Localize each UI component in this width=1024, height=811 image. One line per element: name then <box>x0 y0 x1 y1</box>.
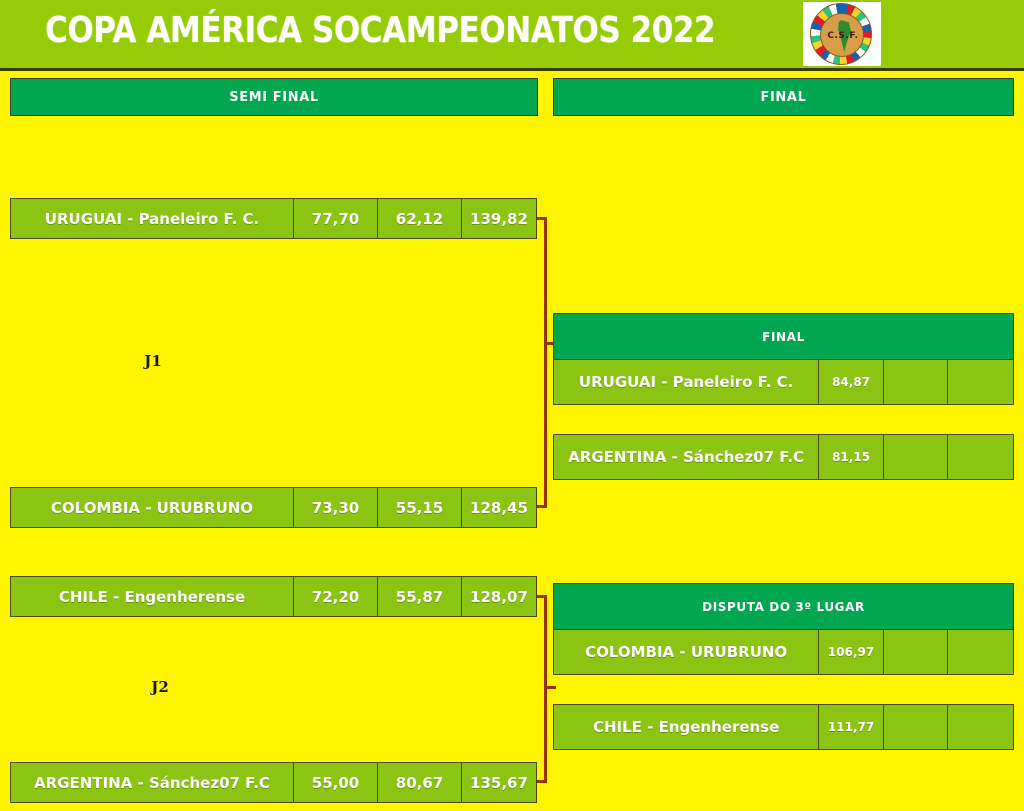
table-row[interactable]: COLOMBIA - URUBRUNO 73,30 55,15 128,45 <box>10 487 537 528</box>
connector-colombia-h <box>537 505 547 508</box>
stage-header-final-label: FINAL <box>761 90 807 105</box>
semifinal-team-name: URUGUAI - Paneleiro F. C. <box>10 198 294 239</box>
semifinal-leg2-score: 55,15 <box>377 487 462 528</box>
final-match-block: FINAL URUGUAI - Paneleiro F. C. 84,87 AR… <box>553 313 1014 480</box>
tournament-bracket-page: COPA AMÉRICA SOCAMPEONATOS 2022 C.S.F. S… <box>0 0 1024 811</box>
conmebol-csf-logo: C.S.F. <box>803 2 881 66</box>
table-row[interactable]: COLOMBIA - URUBRUNO 106,97 <box>553 629 1014 675</box>
connector-j1-v <box>544 217 547 507</box>
third-place-score: 111,77 <box>818 704 884 750</box>
match-label-j1: J1 <box>93 352 213 370</box>
final-block-header-label: FINAL <box>762 330 805 344</box>
logo-inner-disc: C.S.F. <box>820 13 864 57</box>
semifinal-leg1-score: 73,30 <box>293 487 378 528</box>
third-place-score: 106,97 <box>818 629 884 675</box>
third-place-empty-cell[interactable] <box>883 704 949 750</box>
table-row[interactable]: URUGUAI - Paneleiro F. C. 77,70 62,12 13… <box>10 198 537 239</box>
semifinal-leg2-score: 55,87 <box>377 576 462 617</box>
semifinal-total-score: 139,82 <box>461 198 537 239</box>
third-place-empty-cell[interactable] <box>883 629 949 675</box>
table-row[interactable]: URUGUAI - Paneleiro F. C. 84,87 <box>553 359 1014 405</box>
table-row[interactable]: ARGENTINA - Sánchez07 F.C 55,00 80,67 13… <box>10 762 537 803</box>
semifinal-total-score: 128,45 <box>461 487 537 528</box>
final-empty-cell[interactable] <box>883 434 949 480</box>
logo-csf-text: C.S.F. <box>821 31 865 41</box>
third-place-team-name: CHILE - Engenherense <box>553 704 819 750</box>
third-place-block-header: DISPUTA DO 3º LUGAR <box>553 583 1014 630</box>
semifinal-team-name: ARGENTINA - Sánchez07 F.C <box>10 762 294 803</box>
final-score: 84,87 <box>818 359 884 405</box>
semifinal-leg2-score: 62,12 <box>377 198 462 239</box>
table-row[interactable]: ARGENTINA - Sánchez07 F.C 81,15 <box>553 434 1014 480</box>
title-banner: COPA AMÉRICA SOCAMPEONATOS 2022 C.S.F. <box>0 0 1024 71</box>
match-label-j2: J2 <box>100 678 220 696</box>
final-block-header: FINAL <box>553 313 1014 360</box>
logo-flag-ring-icon: C.S.F. <box>810 3 872 65</box>
stage-header-semifinal: SEMI FINAL <box>10 78 538 116</box>
semifinal-total-score: 135,67 <box>461 762 537 803</box>
third-place-match-block: DISPUTA DO 3º LUGAR COLOMBIA - URUBRUNO … <box>553 583 1014 750</box>
final-score: 81,15 <box>818 434 884 480</box>
third-place-empty-cell[interactable] <box>947 704 1014 750</box>
final-team-name: URUGUAI - Paneleiro F. C. <box>553 359 819 405</box>
page-title: COPA AMÉRICA SOCAMPEONATOS 2022 <box>45 10 715 51</box>
semifinal-leg2-score: 80,67 <box>377 762 462 803</box>
semifinal-team-name: COLOMBIA - URUBRUNO <box>10 487 294 528</box>
final-empty-cell[interactable] <box>883 359 949 405</box>
connector-argentina-h <box>537 780 547 783</box>
final-team-name: ARGENTINA - Sánchez07 F.C <box>553 434 819 480</box>
table-row[interactable]: CHILE - Engenherense 111,77 <box>553 704 1014 750</box>
semifinal-leg1-score: 55,00 <box>293 762 378 803</box>
final-empty-cell[interactable] <box>947 434 1014 480</box>
stage-header-semifinal-label: SEMI FINAL <box>229 90 318 105</box>
semifinal-total-score: 128,07 <box>461 576 537 617</box>
semifinal-leg1-score: 72,20 <box>293 576 378 617</box>
third-place-block-header-label: DISPUTA DO 3º LUGAR <box>702 600 865 614</box>
semifinal-leg1-score: 77,70 <box>293 198 378 239</box>
table-row[interactable]: CHILE - Engenherense 72,20 55,87 128,07 <box>10 576 537 617</box>
stage-header-final: FINAL <box>553 78 1014 116</box>
third-place-team-name: COLOMBIA - URUBRUNO <box>553 629 819 675</box>
final-empty-cell[interactable] <box>947 359 1014 405</box>
third-place-empty-cell[interactable] <box>947 629 1014 675</box>
semifinal-team-name: CHILE - Engenherense <box>10 576 294 617</box>
